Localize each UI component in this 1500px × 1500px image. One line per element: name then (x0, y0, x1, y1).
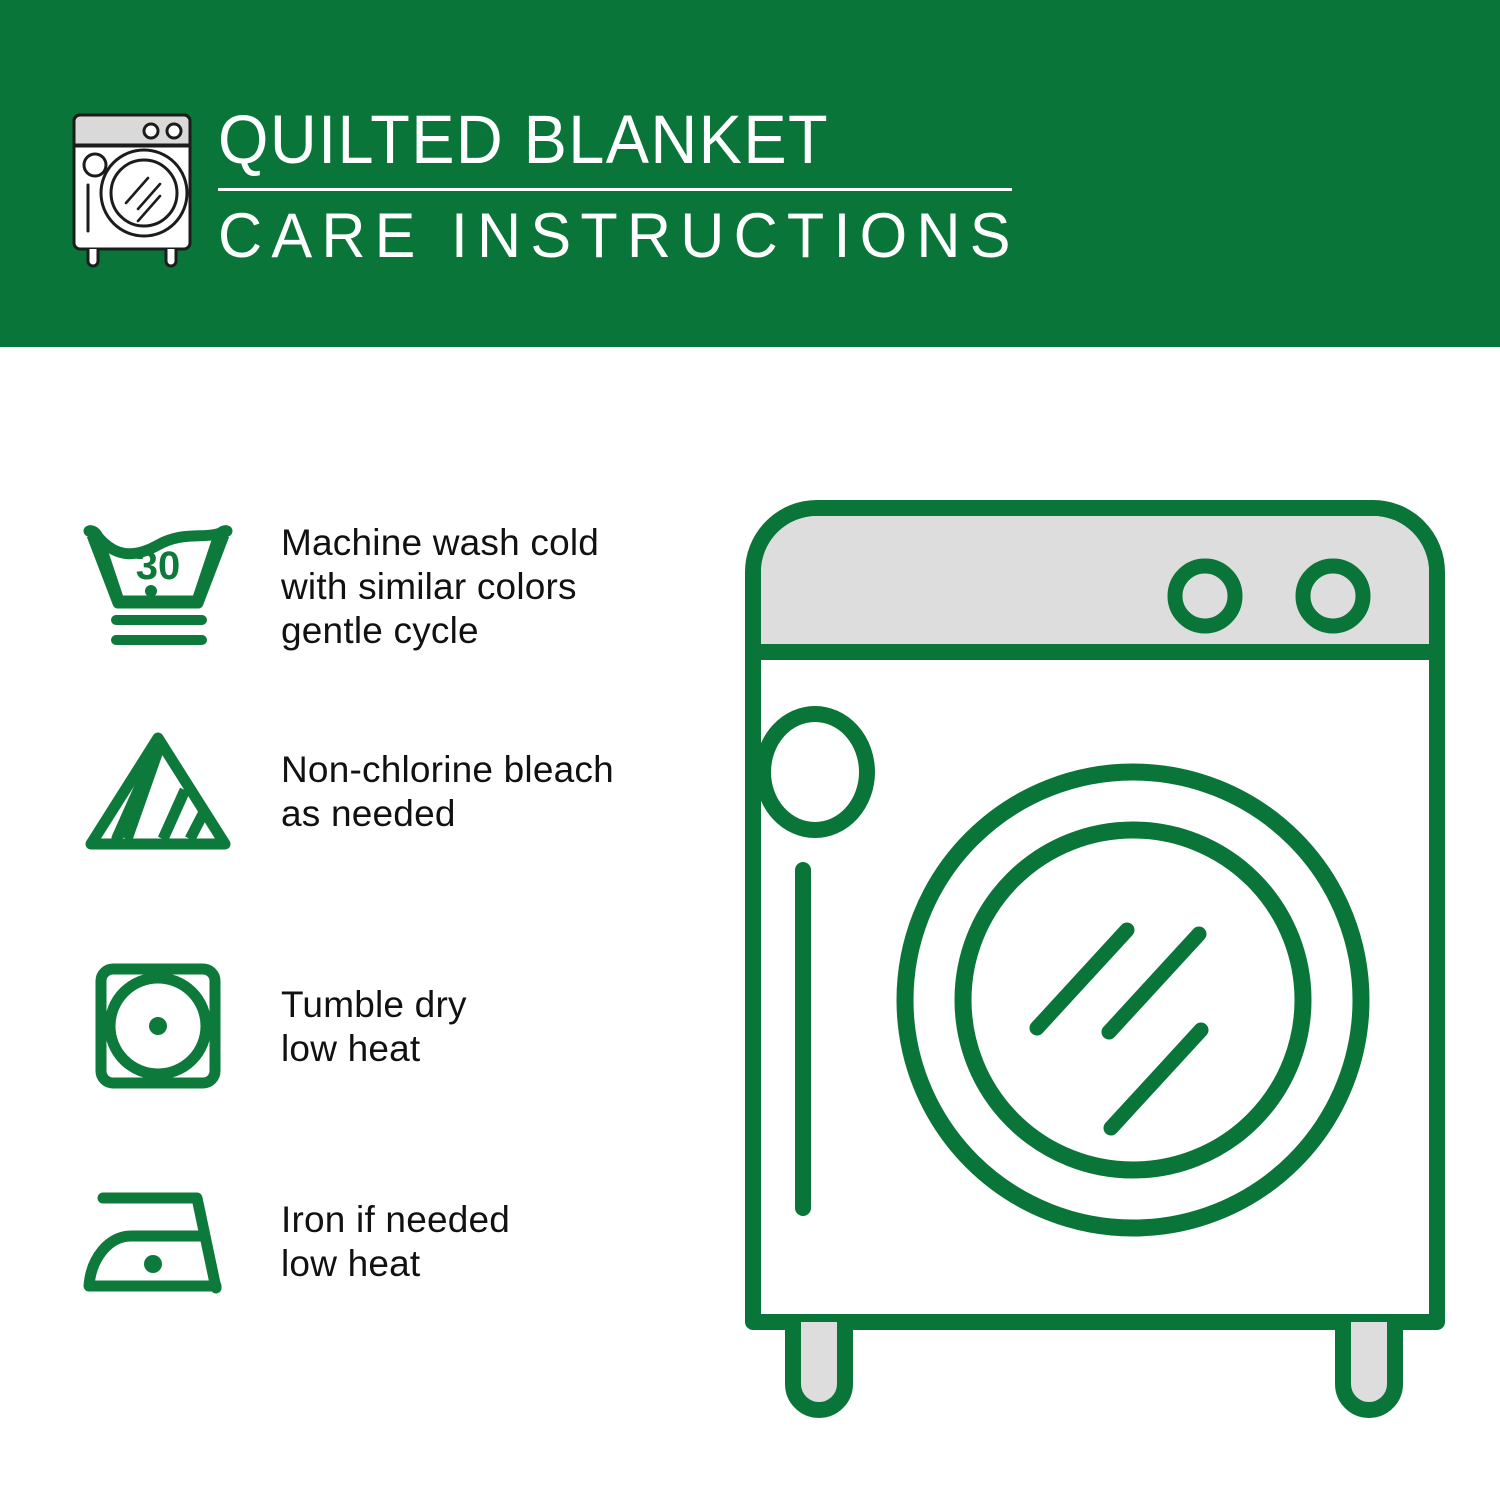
title-divider (218, 188, 1012, 191)
care-text-wash: Machine wash cold with similar colors ge… (281, 521, 599, 653)
page-subtitle: CARE INSTRUCTIONS (218, 199, 994, 273)
washer-leg-right (1343, 1322, 1395, 1410)
iron-low-heat-icon (70, 1172, 245, 1312)
washer-leg-left (793, 1322, 845, 1410)
control-knob-2 (1303, 566, 1363, 626)
header-title-block: QUILTED BLANKET CARE INSTRUCTIONS (218, 100, 1018, 273)
care-text-iron: Iron if needed low heat (281, 1198, 510, 1286)
wash-temperature-value: 30 (135, 544, 180, 588)
care-instruction-list: 30 Machine wash cold with similar colors… (0, 347, 740, 1500)
care-row-iron: Iron if needed low heat (0, 1157, 740, 1327)
non-chlorine-bleach-triangle-icon (70, 722, 245, 862)
wash-tub-30-gentle-icon: 30 (70, 517, 245, 657)
page-title: QUILTED BLANKET (218, 100, 970, 180)
care-text-bleach: Non-chlorine bleach as needed (281, 748, 614, 836)
care-instructions-page: QUILTED BLANKET CARE INSTRUCTIONS 30 (0, 0, 1500, 1500)
washing-machine-icon (62, 103, 202, 268)
care-text-tumble-dry: Tumble dry low heat (281, 983, 467, 1071)
header-band: QUILTED BLANKET CARE INSTRUCTIONS (0, 0, 1500, 347)
care-row-tumble-dry: Tumble dry low heat (0, 942, 740, 1112)
front-load-washing-machine-illustration (745, 500, 1445, 1430)
tumble-dry-low-heat-icon (70, 957, 245, 1097)
care-row-wash: 30 Machine wash cold with similar colors… (0, 502, 740, 672)
control-knob-1 (1175, 566, 1235, 626)
detergent-dispenser (763, 714, 867, 830)
care-row-bleach: Non-chlorine bleach as needed (0, 707, 740, 877)
